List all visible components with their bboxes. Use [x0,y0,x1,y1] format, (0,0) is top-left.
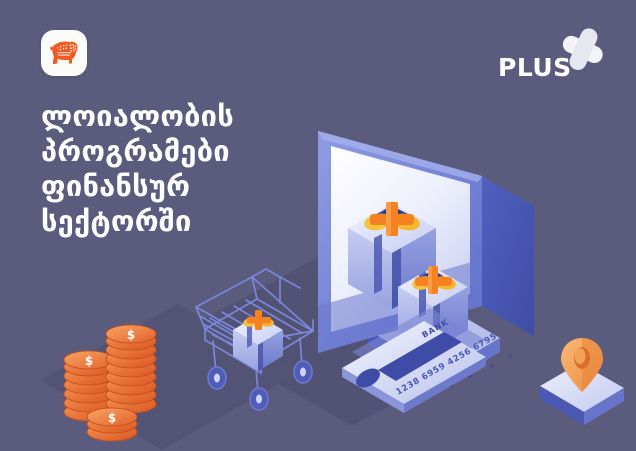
map-location-pin [540,338,624,425]
coin-stack-front: $ [87,408,137,441]
coin-symbol-right: $ [127,328,135,342]
isometric-loyalty-scene: BANK 1238 6959 4256 6795 [0,0,636,451]
coin-symbol-front: $ [108,411,116,425]
coin-symbol-left: $ [85,354,93,368]
coin-stack-right: $ [106,325,156,413]
promo-banner: PLUS ლოიალობის პროგრამები ფინანსურ სექტო… [0,0,636,451]
